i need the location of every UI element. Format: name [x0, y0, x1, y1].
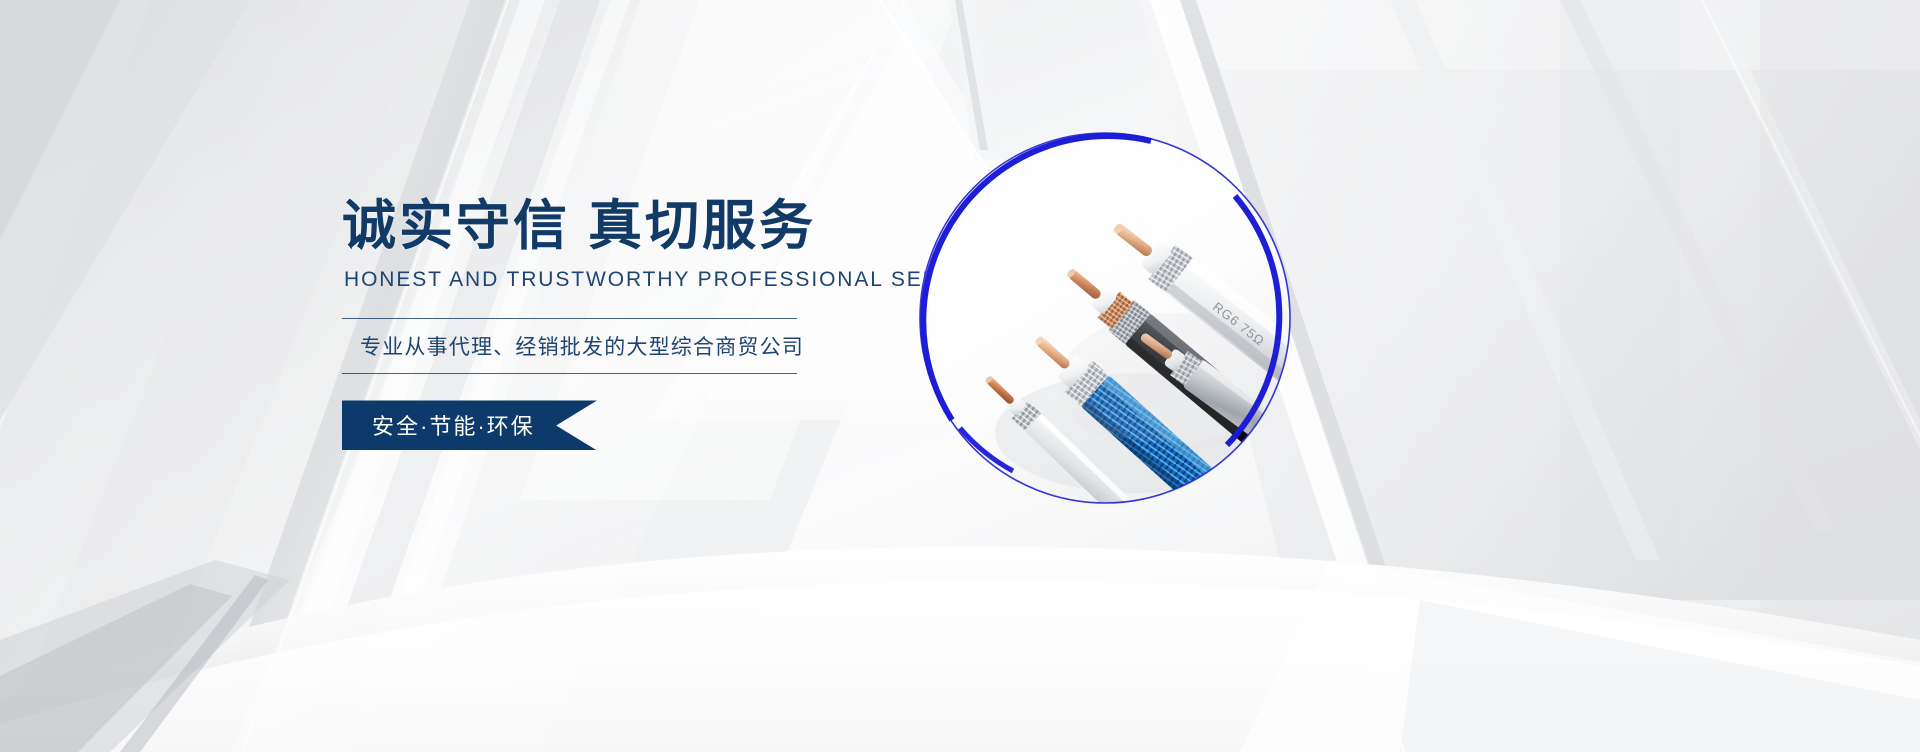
divider-top [342, 318, 797, 319]
banner-subheadline-english: HONEST AND TRUSTWORTHY PROFESSIONAL SERV… [344, 268, 962, 292]
banner-text-block: 诚实守信 真切服务 HONEST AND TRUSTWORTHY PROFESS… [342, 196, 962, 450]
banner-description: 专业从事代理、经销批发的大型综合商贸公司 [342, 319, 962, 373]
circle-ring-icon [905, 118, 1305, 518]
product-circle-graphic: RG6 75Ω [905, 118, 1305, 518]
feature-ribbon: 安全·节能·环保 [342, 400, 597, 450]
ribbon-label: 安全·节能·环保 [342, 400, 597, 450]
banner-headline: 诚实守信 真切服务 [342, 196, 962, 256]
hero-banner: 诚实守信 真切服务 HONEST AND TRUSTWORTHY PROFESS… [0, 0, 1920, 752]
divider-bottom [342, 373, 797, 374]
